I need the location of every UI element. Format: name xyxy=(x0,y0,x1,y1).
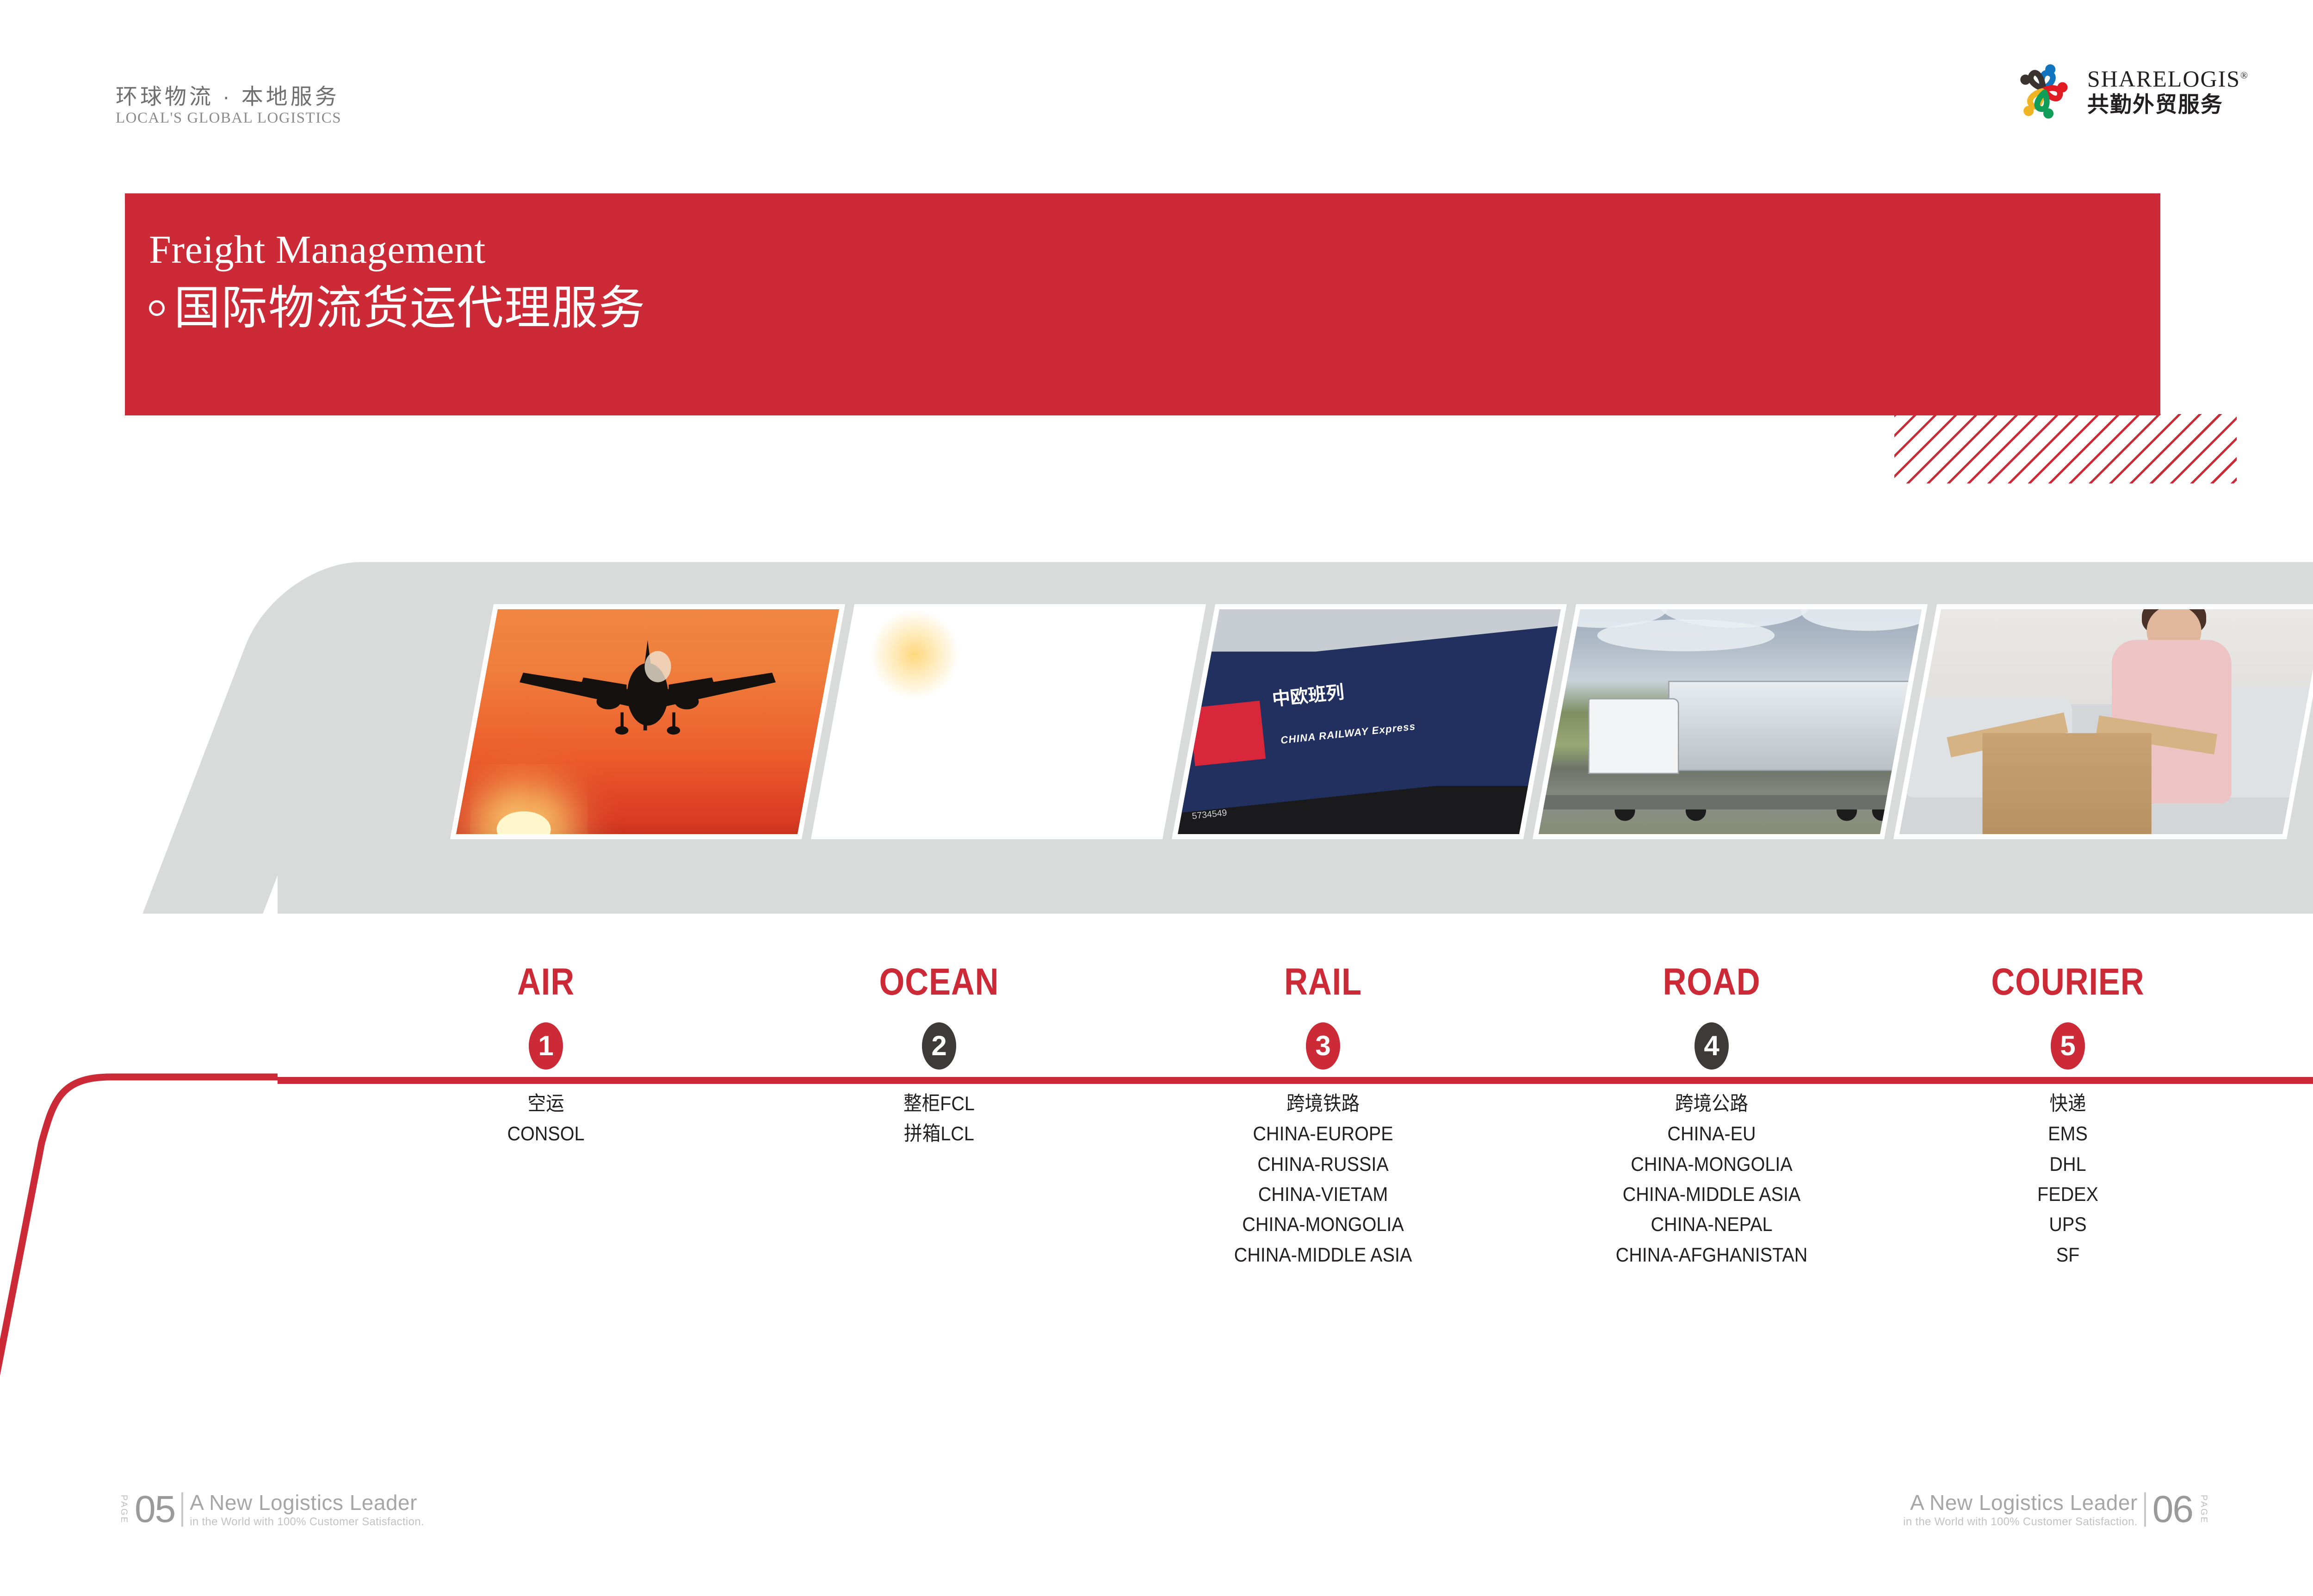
timeline-node-road[interactable]: ROAD 4 跨境公路 CHINA-EU CHINA-MONGOLIA CHIN… xyxy=(1573,963,1850,1270)
footer-tagline-line1: A New Logistics Leader xyxy=(1903,1491,2138,1514)
rail-photo: 中欧班列 CHINA RAILWAY Express 5734549 xyxy=(1172,604,1567,839)
list-item: CHINA-MIDDLE ASIA xyxy=(1195,1240,1451,1270)
node-badge: 4 xyxy=(1695,1022,1729,1070)
list-item: EMS xyxy=(1940,1119,2195,1149)
list-item: CHINA-NEPAL xyxy=(1584,1210,1839,1240)
footer-tagline-line1: A New Logistics Leader xyxy=(190,1491,424,1514)
courier-photo xyxy=(1893,604,2313,839)
footer-tagline-line2: in the World with 100% Customer Satisfac… xyxy=(190,1516,424,1528)
list-item: 快递 xyxy=(1940,1089,2195,1119)
title-banner: Freight Management 国际物流货运代理服务 xyxy=(125,193,2160,415)
title-banner-content: Freight Management 国际物流货运代理服务 xyxy=(149,229,646,331)
banner-title-cn-row: 国际物流货运代理服务 xyxy=(149,285,646,331)
list-item: CHINA-MONGOLIA xyxy=(1195,1210,1451,1240)
footer-left: PAGE 05 A New Logistics Leader in the Wo… xyxy=(119,1491,424,1528)
company-logo: SHARELOGIS® 共勤外贸服务 xyxy=(2011,59,2249,123)
list-item: 拼箱LCL xyxy=(811,1119,1067,1149)
list-item: 跨境公路 xyxy=(1584,1089,1839,1119)
logo-pinwheel-icon xyxy=(2011,59,2075,123)
list-item: FEDEX xyxy=(1940,1180,2195,1210)
logo-wordmark: SHARELOGIS® 共勤外贸服务 xyxy=(2087,67,2249,115)
footer-divider xyxy=(2144,1492,2146,1527)
node-badge: 3 xyxy=(1306,1022,1340,1070)
tagline-en: LOCAL'S GLOBAL LOGISTICS xyxy=(116,111,341,126)
airplane-icon xyxy=(519,622,777,746)
list-item: CHINA-EU xyxy=(1584,1119,1839,1149)
node-items: 快递 EMS DHL FEDEX UPS SF xyxy=(1929,1089,2207,1270)
node-title: AIR xyxy=(427,963,665,1001)
circle-bullet-icon xyxy=(149,300,165,316)
slide-root: 环球物流 · 本地服务 LOCAL'S GLOBAL LOGISTICS xyxy=(0,0,2313,1596)
photo-strip: 中欧班列 CHINA RAILWAY Express 5734549 xyxy=(0,604,2313,839)
list-item: CHINA-VIETAM xyxy=(1195,1180,1451,1210)
footer-tagline: A New Logistics Leader in the World with… xyxy=(190,1491,424,1528)
page-label: PAGE xyxy=(2199,1495,2208,1524)
node-items: 空运 CONSOL xyxy=(407,1089,685,1150)
list-item: UPS xyxy=(1940,1210,2195,1240)
page-number-right: 06 xyxy=(2152,1493,2193,1526)
tagline-cn: 环球物流 · 本地服务 xyxy=(116,85,341,109)
list-item: DHL xyxy=(1940,1150,2195,1180)
list-item: CHINA-MIDDLE ASIA xyxy=(1584,1180,1839,1210)
page-label: PAGE xyxy=(119,1495,128,1524)
node-items: 跨境公路 CHINA-EU CHINA-MONGOLIA CHINA-MIDDL… xyxy=(1573,1089,1850,1270)
list-item: SF xyxy=(1940,1240,2195,1270)
timeline-node-rail[interactable]: RAIL 3 跨境铁路 CHINA-EUROPE CHINA-RUSSIA CH… xyxy=(1184,963,1462,1270)
node-title: ROAD xyxy=(1592,963,1831,1001)
node-title: OCEAN xyxy=(820,963,1058,1001)
air-photo xyxy=(450,604,845,839)
logo-registered-mark: ® xyxy=(2240,69,2249,80)
page-number-left: 05 xyxy=(135,1493,175,1526)
node-badge: 2 xyxy=(922,1022,956,1070)
logo-brand-cn: 共勤外贸服务 xyxy=(2087,93,2249,115)
header-tagline: 环球物流 · 本地服务 LOCAL'S GLOBAL LOGISTICS xyxy=(116,85,341,126)
list-item: 整柜FCL xyxy=(811,1089,1067,1119)
list-item: CHINA-AFGHANISTAN xyxy=(1584,1240,1839,1270)
logo-brand: SHARELOGIS® xyxy=(2087,67,2249,90)
footer-tagline-line2: in the World with 100% Customer Satisfac… xyxy=(1903,1516,2138,1528)
banner-title-cn: 国际物流货运代理服务 xyxy=(174,285,646,331)
footer-right: A New Logistics Leader in the World with… xyxy=(1903,1491,2208,1528)
list-item: 空运 xyxy=(418,1089,674,1119)
list-item: 跨境铁路 xyxy=(1195,1089,1451,1119)
node-items: 跨境铁路 CHINA-EUROPE CHINA-RUSSIA CHINA-VIE… xyxy=(1184,1089,1462,1270)
node-badge: 5 xyxy=(2051,1022,2085,1070)
list-item: CONSOL xyxy=(418,1119,674,1149)
logo-brand-text: SHARELOGIS xyxy=(2087,66,2240,92)
footer-divider xyxy=(181,1492,183,1527)
list-item: CHINA-RUSSIA xyxy=(1195,1150,1451,1180)
timeline-node-air[interactable]: AIR 1 空运 CONSOL xyxy=(407,963,685,1150)
node-title: RAIL xyxy=(1204,963,1442,1001)
diagonal-hatch-decoration xyxy=(1894,414,2237,483)
timeline-node-courier[interactable]: COURIER 5 快递 EMS DHL FEDEX UPS SF xyxy=(1929,963,2207,1270)
list-item: CHINA-EUROPE xyxy=(1195,1119,1451,1149)
list-item: CHINA-MONGOLIA xyxy=(1584,1150,1839,1180)
timeline-node-ocean[interactable]: OCEAN 2 整柜FCL 拼箱LCL xyxy=(800,963,1078,1150)
node-items: 整柜FCL 拼箱LCL xyxy=(800,1089,1078,1150)
node-badge: 1 xyxy=(529,1022,563,1070)
footer-tagline: A New Logistics Leader in the World with… xyxy=(1903,1491,2138,1528)
node-title: COURIER xyxy=(1948,963,2187,1001)
road-photo xyxy=(1533,604,1928,839)
ocean-photo xyxy=(811,604,1206,839)
banner-title-en: Freight Management xyxy=(149,229,646,269)
